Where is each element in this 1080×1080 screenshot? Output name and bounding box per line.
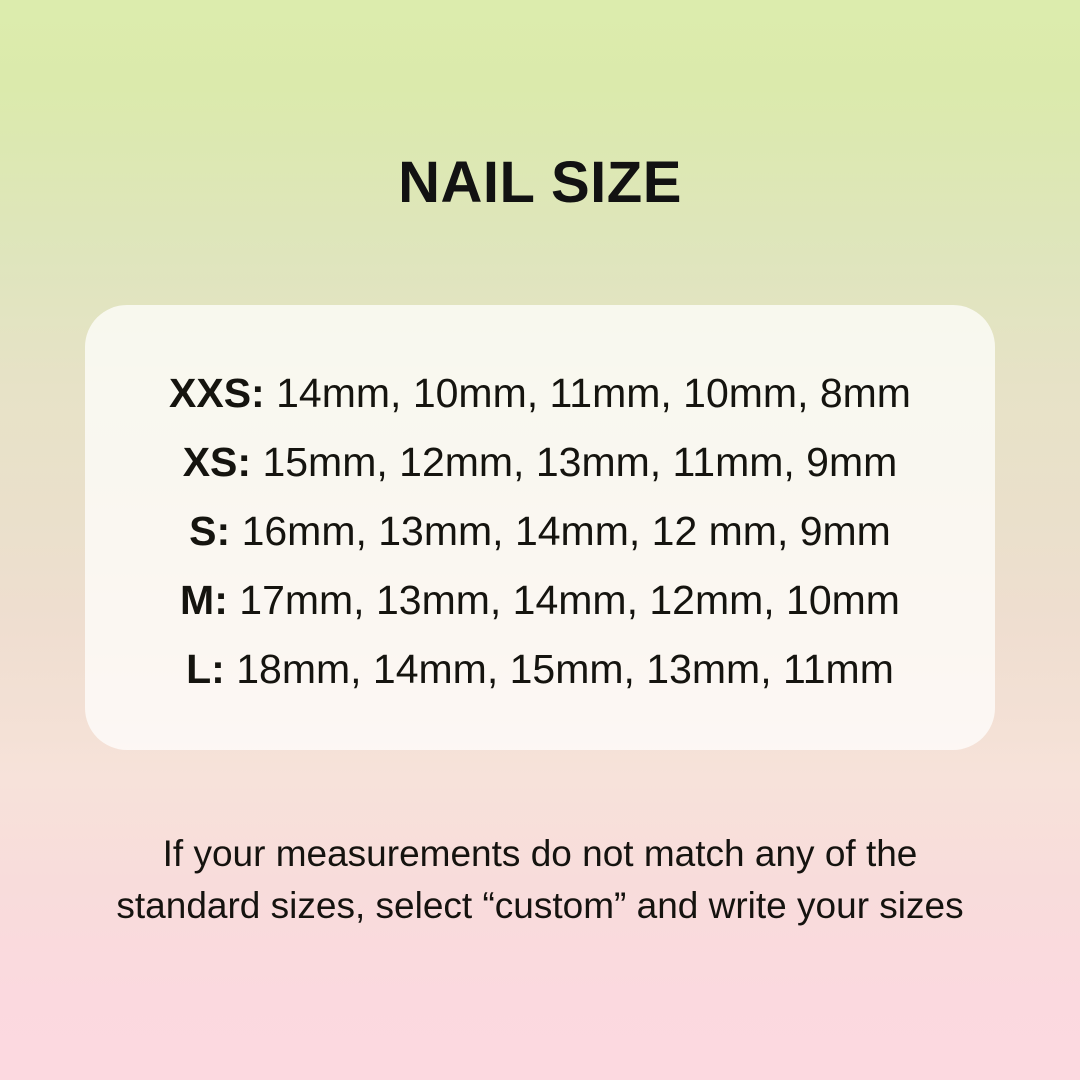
custom-size-note: If your measurements do not match any of… [50,828,1030,932]
size-row-s: S: 16mm, 13mm, 14mm, 12 mm, 9mm [85,497,995,566]
size-label: M: [180,577,228,623]
note-line-2: standard sizes, select “custom” and writ… [50,880,1030,932]
page-title: NAIL SIZE [0,152,1080,214]
size-label: L: [186,646,225,692]
nail-size-poster: NAIL SIZE XXS: 14mm, 10mm, 11mm, 10mm, 8… [0,0,1080,1080]
note-line-1: If your measurements do not match any of… [50,828,1030,880]
size-values: 14mm, 10mm, 11mm, 10mm, 8mm [276,370,911,416]
size-row-xs: XS: 15mm, 12mm, 13mm, 11mm, 9mm [85,428,995,497]
size-row-m: M: 17mm, 13mm, 14mm, 12mm, 10mm [85,566,995,635]
size-label: XS: [183,439,251,485]
size-values: 16mm, 13mm, 14mm, 12 mm, 9mm [242,508,891,554]
size-row-l: L: 18mm, 14mm, 15mm, 13mm, 11mm [85,635,995,704]
size-label: S: [189,508,230,554]
size-values: 15mm, 12mm, 13mm, 11mm, 9mm [262,439,897,485]
size-values: 17mm, 13mm, 14mm, 12mm, 10mm [239,577,900,623]
size-chart-card: XXS: 14mm, 10mm, 11mm, 10mm, 8mm XS: 15m… [85,305,995,750]
size-values: 18mm, 14mm, 15mm, 13mm, 11mm [236,646,894,692]
size-label: XXS: [169,370,265,416]
size-row-xxs: XXS: 14mm, 10mm, 11mm, 10mm, 8mm [85,359,995,428]
